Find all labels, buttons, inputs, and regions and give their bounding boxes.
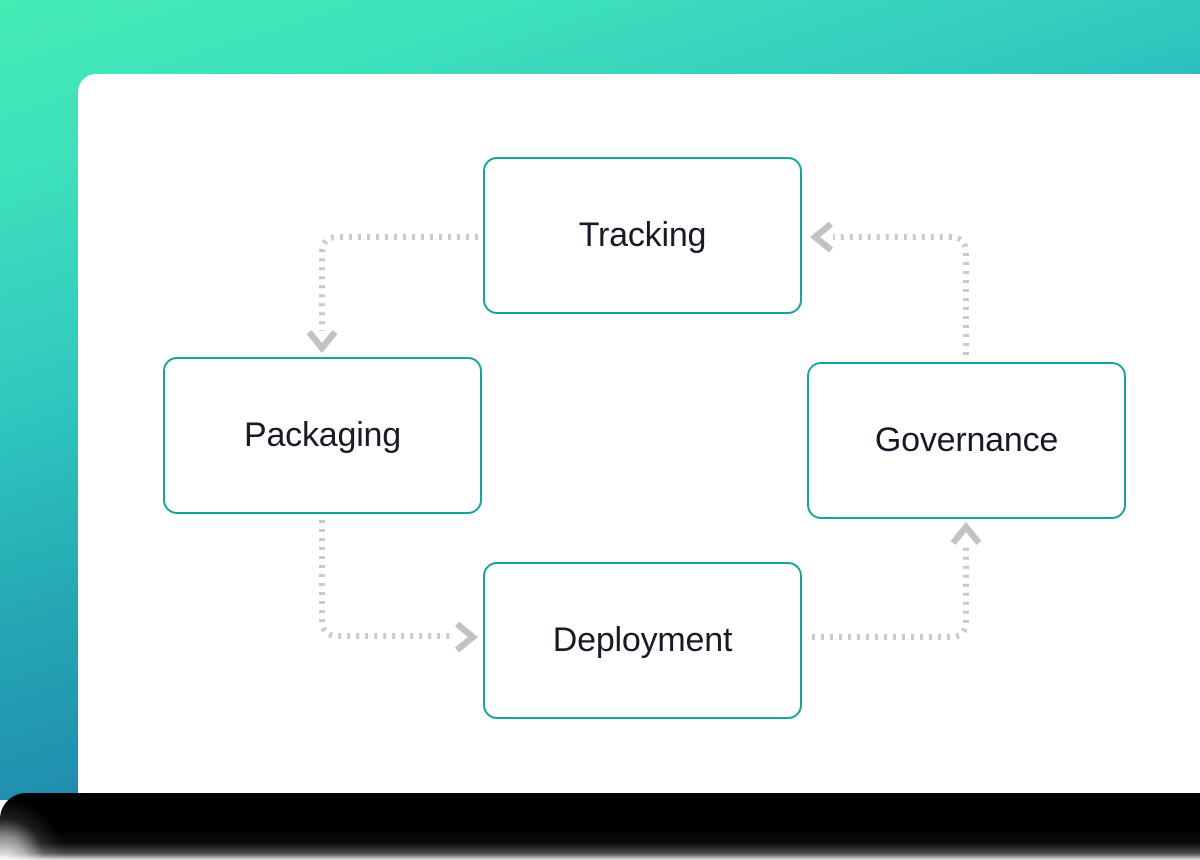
flow-node-governance[interactable]: Governance [807,362,1126,519]
flow-node-tracking-label: Tracking [579,216,707,255]
flow-node-deployment[interactable]: Deployment [483,562,802,719]
bottom-device-bar [0,793,1200,860]
connector-packaging-to-deployment [322,520,473,650]
flow-node-packaging[interactable]: Packaging [163,357,482,514]
flow-node-packaging-label: Packaging [244,416,401,455]
connector-tracking-to-packaging [309,237,478,348]
flow-node-tracking[interactable]: Tracking [483,157,802,314]
flow-node-deployment-label: Deployment [553,621,732,660]
connector-deployment-to-governance [812,527,979,637]
screenshot-stage: Tracking Packaging Governance Deployment [0,0,1200,860]
bottom-bar-corner-glow [0,793,120,860]
bottom-bar-sheen [0,830,1200,860]
flow-node-governance-label: Governance [875,421,1058,460]
connector-governance-to-tracking [815,224,966,355]
